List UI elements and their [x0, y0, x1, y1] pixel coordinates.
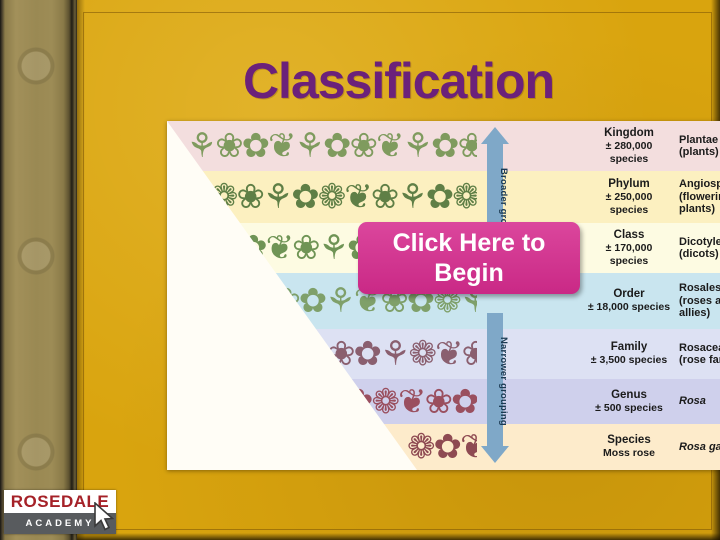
cta-line-1: Click Here to: [393, 228, 546, 258]
table-row: SpeciesMoss roseRosa gallica: [585, 424, 720, 470]
rank-scientific-cell: Rosa: [677, 395, 720, 408]
rank-scientific-cell: Rosaceae(rose family): [677, 342, 720, 367]
rank-common-name: (plants): [679, 146, 720, 159]
rank-name: Class: [585, 229, 673, 242]
rank-scientific-cell: Plantae(plants): [677, 134, 720, 159]
table-row: Phylum± 250,000 speciesAngiospermae(flow…: [585, 171, 720, 223]
arrow-down-label: Narrower grouping: [481, 317, 509, 445]
page-title: Classification: [77, 52, 720, 110]
rank-species-count: ± 500 species: [585, 402, 673, 415]
rank-species-count: ± 3,500 species: [585, 354, 673, 367]
cta-line-2: Begin: [434, 258, 503, 288]
rank-scientific-cell: Rosales(roses and their allies): [677, 282, 720, 320]
table-row: Genus± 500 speciesRosa: [585, 379, 720, 424]
rank-name: Phylum: [585, 178, 673, 191]
table-row: Class± 170,000 speciesDicotyledonae(dico…: [585, 223, 720, 273]
table-row: Kingdom± 280,000 speciesPlantae(plants): [585, 121, 720, 171]
table-row: Order± 18,000 speciesRosales(roses and t…: [585, 273, 720, 329]
page-shadow-bottom: [77, 533, 720, 540]
rank-species-count: ± 250,000 species: [585, 191, 673, 217]
narrower-grouping-arrow: Narrower grouping: [481, 313, 509, 465]
rank-table: Kingdom± 280,000 speciesPlantae(plants)P…: [585, 121, 720, 470]
rank-common-name: (dicots): [679, 248, 720, 261]
arrow-down-head: [481, 446, 509, 463]
rank-name: Family: [585, 341, 673, 354]
rank-scientific-name: Plantae: [679, 134, 720, 147]
rank-species-count: ± 280,000 species: [585, 140, 673, 166]
rank-scientific-name: Angiospermae: [679, 178, 720, 191]
rank-common-name: (rose family): [679, 354, 720, 367]
rank-name-cell: Phylum± 250,000 species: [585, 178, 677, 217]
rank-name: Species: [585, 434, 673, 447]
mouse-pointer-icon: [93, 502, 115, 532]
rank-scientific-cell: Angiospermae(flowering plants): [677, 178, 720, 216]
rank-scientific-cell: Dicotyledonae(dicots): [677, 236, 720, 261]
rank-name: Kingdom: [585, 127, 673, 140]
rank-name: Order: [585, 288, 673, 301]
rank-scientific-name: Rosales: [679, 282, 720, 295]
binder-spine: [0, 0, 72, 540]
rank-species-count: ± 18,000 species: [585, 301, 673, 314]
rank-name-cell: Order± 18,000 species: [585, 288, 677, 314]
rank-name-cell: SpeciesMoss rose: [585, 434, 677, 460]
click-here-to-begin-button[interactable]: Click Here to Begin: [358, 222, 580, 294]
slide-page: Classification ⚘❀✿❦⚘✿❀❦⚘✿❀❦⚘✿❁❀⚘✿❁❦❀⚘✿❁❀…: [77, 0, 720, 540]
rank-name-cell: Kingdom± 280,000 species: [585, 127, 677, 166]
rank-scientific-name: Rosaceae: [679, 342, 720, 355]
rank-species-count: Moss rose: [585, 447, 673, 460]
rank-name: Genus: [585, 389, 673, 402]
rank-common-name: (flowering plants): [679, 191, 720, 216]
rank-name-cell: Class± 170,000 species: [585, 229, 677, 268]
rank-name-cell: Genus± 500 species: [585, 389, 677, 415]
table-row: Family± 3,500 speciesRosaceae(rose famil…: [585, 329, 720, 379]
rank-species-count: ± 170,000 species: [585, 242, 673, 268]
arrow-up-head: [481, 127, 509, 144]
rank-scientific-name: Rosa: [679, 395, 720, 408]
grouping-arrows: Broader grouping Narrower grouping: [477, 121, 513, 470]
rank-scientific-cell: Rosa gallica: [677, 441, 720, 454]
presentation-slide: Classification ⚘❀✿❦⚘✿❀❦⚘✿❀❦⚘✿❁❀⚘✿❁❦❀⚘✿❁❀…: [0, 0, 720, 540]
rank-scientific-name: Dicotyledonae: [679, 236, 720, 249]
rank-common-name: (roses and their allies): [679, 295, 720, 320]
classification-figure: ⚘❀✿❦⚘✿❀❦⚘✿❀❦⚘✿❁❀⚘✿❁❦❀⚘✿❁❀❦⚘✿❦❀⚘✿❁❦❀⚘✿❦❀❀…: [167, 121, 720, 470]
rank-scientific-name: Rosa gallica: [679, 441, 720, 454]
rank-name-cell: Family± 3,500 species: [585, 341, 677, 367]
